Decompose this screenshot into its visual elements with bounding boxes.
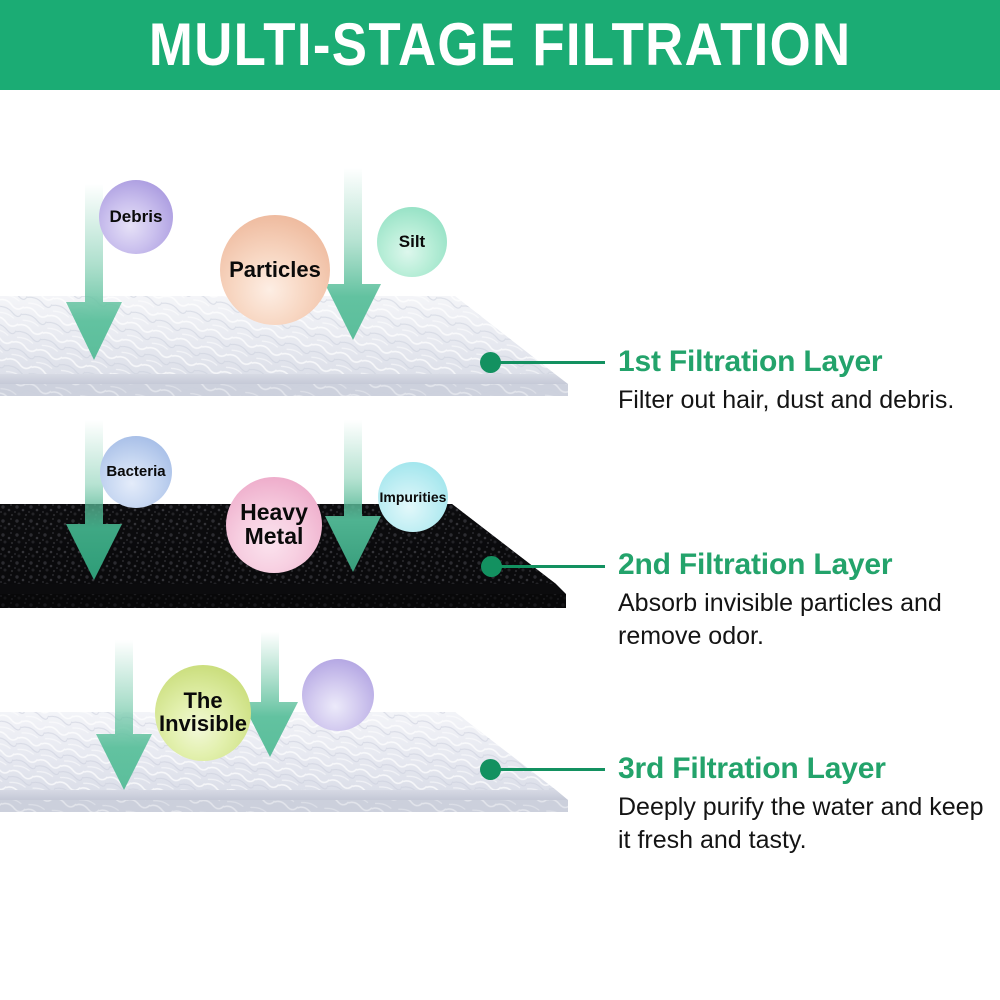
bubble-impurities: Impurities [378,462,448,532]
bubble-heavy-metal: Heavy Metal [226,477,322,573]
bubble-plain-purple [302,659,374,731]
flow-arrow-2b [325,420,381,572]
connector-dot-2 [481,556,502,577]
bubble-label: Heavy Metal [226,501,322,549]
layer-desc-3: Deeply purify the water and keep it fres… [618,791,1000,857]
bubble-bacteria: Bacteria [100,436,172,508]
bubble-the-invisible: The Invisible [155,665,251,761]
filtration-stage-3: The Invisible 3rd Filtration Layer Deepl… [0,0,1000,430]
layer-title-2: 2nd Filtration Layer [618,548,1000,581]
bubble-label: Bacteria [106,464,165,480]
flow-arrow-3a [96,640,152,790]
infographic-page: MULTI-STAGE FILTRATION [0,0,1000,1000]
layer-desc-2: Absorb invisible particles and remove od… [618,587,1000,653]
bubble-label: The Invisible [155,690,251,736]
connector-line-2 [501,565,605,568]
connector-line-3 [500,768,605,771]
connector-dot-3 [480,759,501,780]
layer-title-3: 3rd Filtration Layer [618,752,1000,785]
bubble-label: Impurities [380,490,447,505]
layer-text-3: 3rd Filtration Layer Deeply purify the w… [618,752,1000,857]
layer-text-2: 2nd Filtration Layer Absorb invisible pa… [618,548,1000,653]
